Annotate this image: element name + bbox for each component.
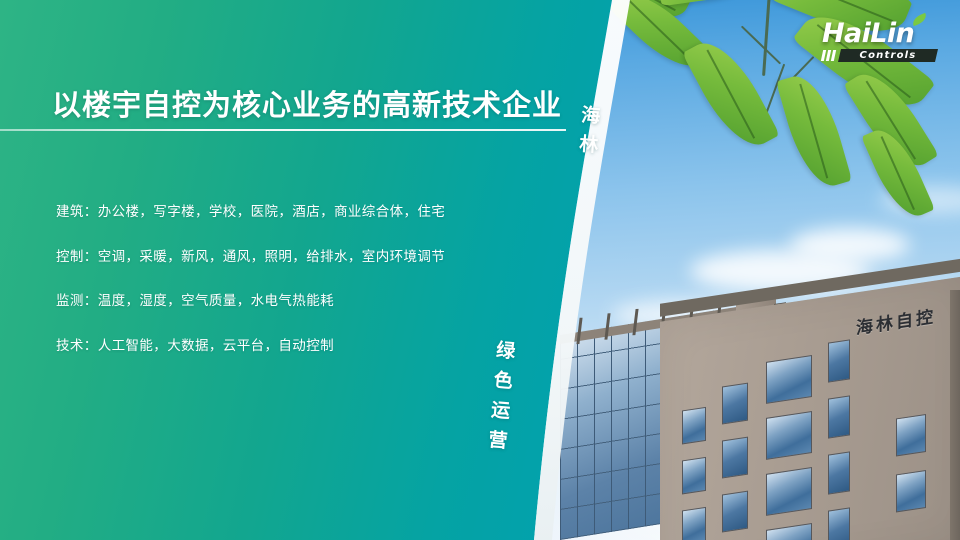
logo-name-text: HaiLin: [822, 18, 914, 49]
title-underline-rule: [0, 129, 566, 131]
window: [828, 395, 850, 438]
list-item: 建筑：办公楼，写字楼，学校，医院，酒店，商业综合体，住宅: [56, 206, 536, 220]
window: [828, 451, 850, 494]
window: [766, 467, 812, 516]
list-item: 技术：人工智能，大数据，云平台，自动控制: [56, 340, 536, 354]
vertical-slogan-top: 海林: [573, 104, 604, 164]
brand-logo: HaiLin Controls: [822, 20, 938, 62]
window: [766, 523, 812, 540]
branch-stem: [762, 0, 773, 76]
bullet-list: 建筑：办公楼，写字楼，学校，医院，酒店，商业综合体，住宅 控制：空调，采暖，新风…: [56, 206, 536, 384]
list-item: 监测：温度，湿度，空气质量，水电气热能耗: [56, 295, 536, 309]
window: [766, 411, 812, 460]
logo-subtitle-text: Controls: [838, 49, 938, 62]
window: [828, 507, 850, 540]
window: [828, 339, 850, 382]
leaf: [776, 69, 852, 193]
logo-subtitle-bar: Controls: [822, 49, 938, 62]
window: [896, 470, 926, 512]
window: [722, 491, 748, 533]
branch-stem: [741, 26, 781, 65]
logo-wordmark: HaiLin: [822, 20, 938, 47]
window: [722, 437, 748, 479]
page-title: 以楼宇自控为核心业务的高新技术企业: [52, 82, 562, 124]
bars-icon: [822, 50, 835, 61]
window: [766, 355, 812, 404]
slide-canvas: 海林自控 以楼宇自控为核心业务的高新技术企业 建筑：办公楼，写字楼，学校，医院，…: [0, 0, 960, 540]
window: [682, 407, 706, 445]
window: [682, 457, 706, 495]
window: [896, 414, 926, 456]
window: [722, 383, 748, 425]
list-item: 控制：空调，采暖，新风，通风，照明，给排水，室内环境调节: [56, 251, 536, 265]
building-side-wall: [950, 290, 960, 540]
window: [682, 507, 706, 540]
office-building: 海林自控: [560, 260, 960, 540]
